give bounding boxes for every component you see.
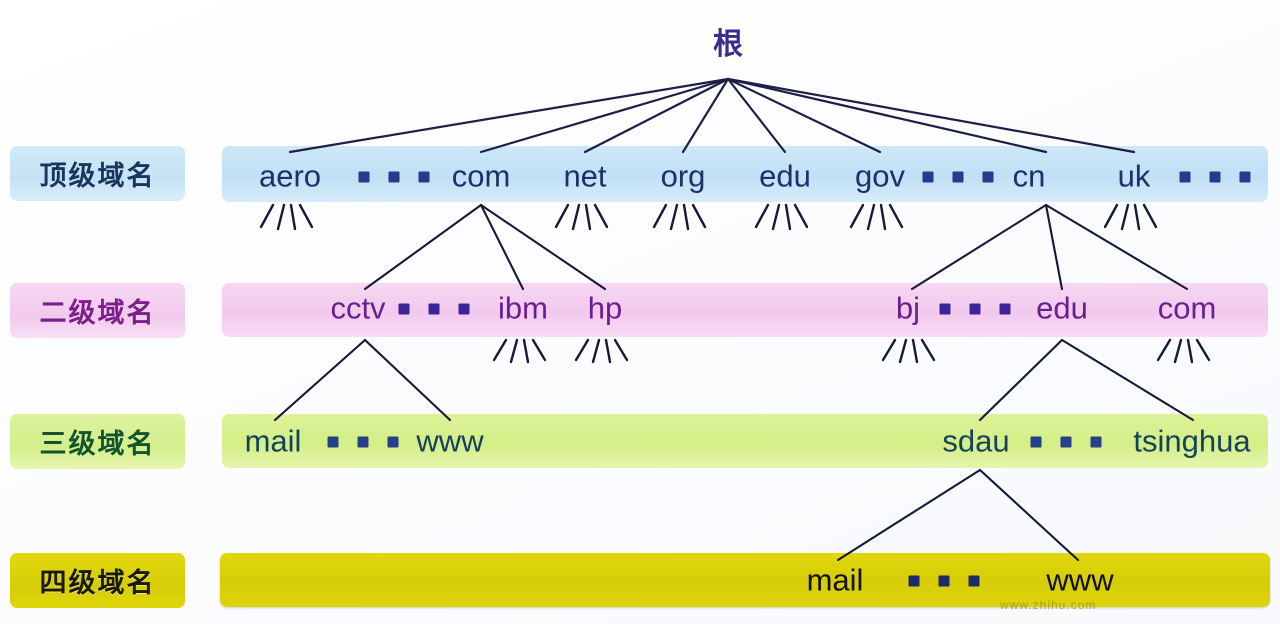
row-label-top-level-text: 顶级域名 bbox=[40, 154, 156, 193]
node-l3-mail[interactable]: mail bbox=[245, 426, 302, 457]
fan-uk bbox=[1105, 205, 1156, 229]
node-l2-com-text: com bbox=[1158, 291, 1217, 326]
node-l4-mail[interactable]: mail bbox=[807, 565, 864, 596]
row-label-second-level-text: 二级域名 bbox=[40, 291, 156, 330]
node-l4-www-text: www bbox=[1046, 563, 1113, 598]
ellipsis-tld-2 bbox=[923, 172, 994, 183]
node-tld-net[interactable]: net bbox=[563, 161, 606, 192]
fan-aero bbox=[261, 205, 312, 229]
fan-bj bbox=[883, 340, 934, 362]
edge-root-org bbox=[683, 79, 728, 152]
edge-cn-edu bbox=[1046, 205, 1062, 289]
node-tld-gov-text: gov bbox=[855, 159, 905, 194]
edge-com-cctv bbox=[365, 205, 481, 289]
node-l3-sdau[interactable]: sdau bbox=[942, 426, 1009, 457]
node-l4-www[interactable]: www bbox=[1046, 565, 1113, 596]
edge-cn-bj bbox=[912, 205, 1046, 289]
row-label-third-level: 三级域名 bbox=[10, 414, 185, 469]
edge-edu-sdau bbox=[980, 340, 1062, 420]
edge-root-com bbox=[481, 79, 728, 152]
edge-com-ibm bbox=[481, 205, 523, 289]
edge-root-uk bbox=[728, 79, 1134, 152]
edge-cctv-mail bbox=[275, 340, 365, 420]
node-tld-net-text: net bbox=[563, 159, 606, 194]
node-l2-bj[interactable]: bj bbox=[896, 293, 920, 324]
edge-sdau-www bbox=[980, 470, 1078, 560]
node-l3-sdau-text: sdau bbox=[942, 424, 1009, 459]
node-tld-uk[interactable]: uk bbox=[1118, 161, 1151, 192]
node-tld-uk-text: uk bbox=[1118, 159, 1151, 194]
node-tld-cn[interactable]: cn bbox=[1013, 161, 1046, 192]
node-l2-cctv[interactable]: cctv bbox=[330, 293, 385, 324]
node-tld-edu-text: edu bbox=[759, 159, 811, 194]
node-l4-mail-text: mail bbox=[807, 563, 864, 598]
node-tld-com-text: com bbox=[452, 159, 511, 194]
fan-gov bbox=[851, 205, 902, 229]
node-l2-edu[interactable]: edu bbox=[1036, 293, 1088, 324]
ellipsis-l3-2 bbox=[1031, 437, 1102, 448]
node-l2-com[interactable]: com bbox=[1158, 293, 1217, 324]
edge-root-net bbox=[585, 79, 728, 152]
edge-root-cn bbox=[728, 79, 1046, 152]
node-l2-hp-text: hp bbox=[588, 291, 622, 326]
ellipsis-tld-3 bbox=[1180, 172, 1251, 183]
ellipsis-l4-1 bbox=[909, 576, 980, 587]
edge-cctv-www bbox=[365, 340, 450, 420]
node-tld-org-text: org bbox=[661, 159, 706, 194]
edge-root-gov bbox=[728, 79, 880, 152]
node-tld-com[interactable]: com bbox=[452, 161, 511, 192]
node-l3-tsinghua-text: tsinghua bbox=[1133, 424, 1250, 459]
ellipsis-l2-1 bbox=[399, 304, 470, 315]
edge-edu-tsinghua bbox=[1062, 340, 1193, 420]
node-tld-edu[interactable]: edu bbox=[759, 161, 811, 192]
node-l2-bj-text: bj bbox=[896, 291, 920, 326]
node-l2-ibm[interactable]: ibm bbox=[498, 293, 548, 324]
edge-root-aero bbox=[290, 79, 728, 152]
watermark: www.zhihu.com bbox=[1000, 598, 1096, 612]
edge-sdau-mail bbox=[838, 470, 980, 560]
node-tld-org[interactable]: org bbox=[661, 161, 706, 192]
node-l3-mail-text: mail bbox=[245, 424, 302, 459]
node-l2-edu-text: edu bbox=[1036, 291, 1088, 326]
edge-com-hp bbox=[481, 205, 605, 289]
node-l2-hp[interactable]: hp bbox=[588, 293, 622, 324]
edge-cn-com bbox=[1046, 205, 1187, 289]
ellipsis-tld-1 bbox=[359, 172, 430, 183]
node-root[interactable]: 根 bbox=[713, 30, 743, 60]
ellipsis-l2-2 bbox=[940, 304, 1011, 315]
node-l3-www-text: www bbox=[416, 424, 483, 459]
row-label-second-level: 二级域名 bbox=[10, 283, 185, 338]
node-tld-gov[interactable]: gov bbox=[855, 161, 905, 192]
fan-hp bbox=[576, 340, 627, 362]
fan-com-cn bbox=[1158, 340, 1209, 362]
node-root-text: 根 bbox=[713, 27, 743, 62]
fan-edu-tld bbox=[756, 205, 807, 229]
node-l2-ibm-text: ibm bbox=[498, 291, 548, 326]
fan-org bbox=[654, 205, 705, 229]
node-l3-tsinghua[interactable]: tsinghua bbox=[1133, 426, 1250, 457]
node-tld-aero-text: aero bbox=[259, 159, 321, 194]
fan-ibm bbox=[494, 340, 545, 362]
edge-root-edu bbox=[728, 79, 785, 152]
node-l3-www[interactable]: www bbox=[416, 426, 483, 457]
watermark-text: www.zhihu.com bbox=[1000, 598, 1096, 612]
dns-hierarchy-diagram: 顶级域名 二级域名 三级域名 四级域名 bbox=[0, 0, 1280, 624]
row-label-top-level: 顶级域名 bbox=[10, 146, 185, 201]
row-label-third-level-text: 三级域名 bbox=[40, 422, 156, 461]
node-l2-cctv-text: cctv bbox=[330, 291, 385, 326]
row-label-fourth-level-text: 四级域名 bbox=[40, 561, 156, 600]
node-tld-cn-text: cn bbox=[1013, 159, 1046, 194]
row-label-fourth-level: 四级域名 bbox=[10, 553, 185, 608]
fan-net bbox=[556, 205, 607, 229]
node-tld-aero[interactable]: aero bbox=[259, 161, 321, 192]
ellipsis-l3-1 bbox=[328, 437, 399, 448]
